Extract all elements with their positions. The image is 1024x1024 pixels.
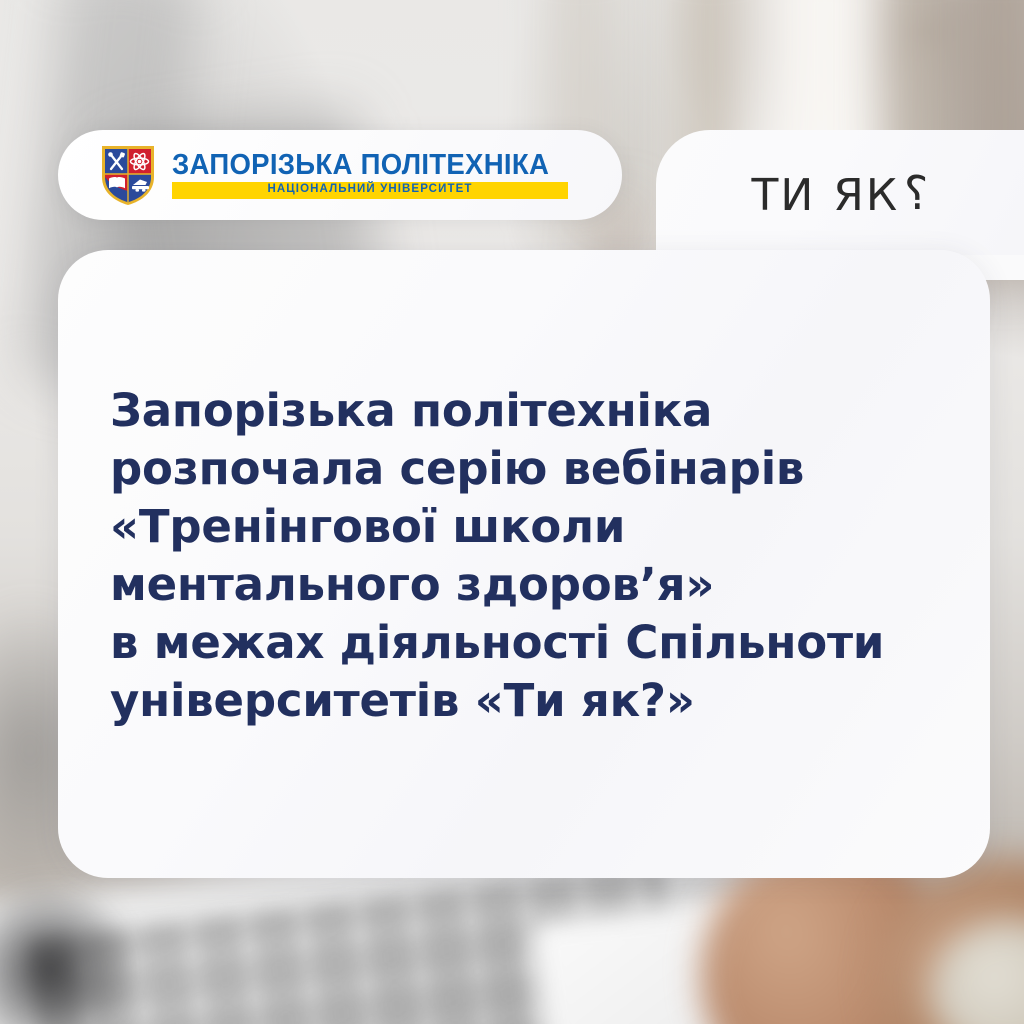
university-name: ЗАПОРІЗЬКА ПОЛІТЕХНІКА: [172, 151, 549, 180]
headline-text: Запорізька політехніка розпочала серію в…: [110, 382, 990, 730]
campaign-logo: ТИ ЯК ?: [751, 171, 928, 218]
headline-line: університетів «Ти як?»: [110, 672, 990, 730]
campaign-logo-word-two: ЯК: [833, 174, 899, 218]
campaign-badge-panel: ТИ ЯК ?: [656, 130, 1024, 255]
headline-line: Запорізька політехніка: [110, 382, 990, 440]
university-subtitle: НАЦІОНАЛЬНИЙ УНІВЕРСИТЕТ: [268, 184, 473, 196]
headline-line: в межах діяльності Спільноти: [110, 614, 990, 672]
headline-line: «Тренінгової школи: [110, 498, 990, 556]
university-subtitle-bar: НАЦІОНАЛЬНИЙ УНІВЕРСИТЕТ: [172, 182, 569, 199]
zaporizhzhia-polytechnic-shield-icon: [100, 143, 156, 207]
headline-line: розпочала серію вебінарів: [110, 440, 990, 498]
university-badge-panel: ЗАПОРІЗЬКА ПОЛІТЕХНІКА НАЦІОНАЛЬНИЙ УНІВ…: [58, 130, 622, 220]
mirrored-question-mark-icon: ?: [902, 170, 928, 216]
campaign-logo-word-one: ТИ: [751, 174, 815, 218]
poster-canvas: ТИ ЯК ?: [0, 0, 1024, 1024]
headline-line: ментального здоров’я»: [110, 556, 990, 614]
university-logo: ЗАПОРІЗЬКА ПОЛІТЕХНІКА НАЦІОНАЛЬНИЙ УНІВ…: [100, 143, 569, 207]
